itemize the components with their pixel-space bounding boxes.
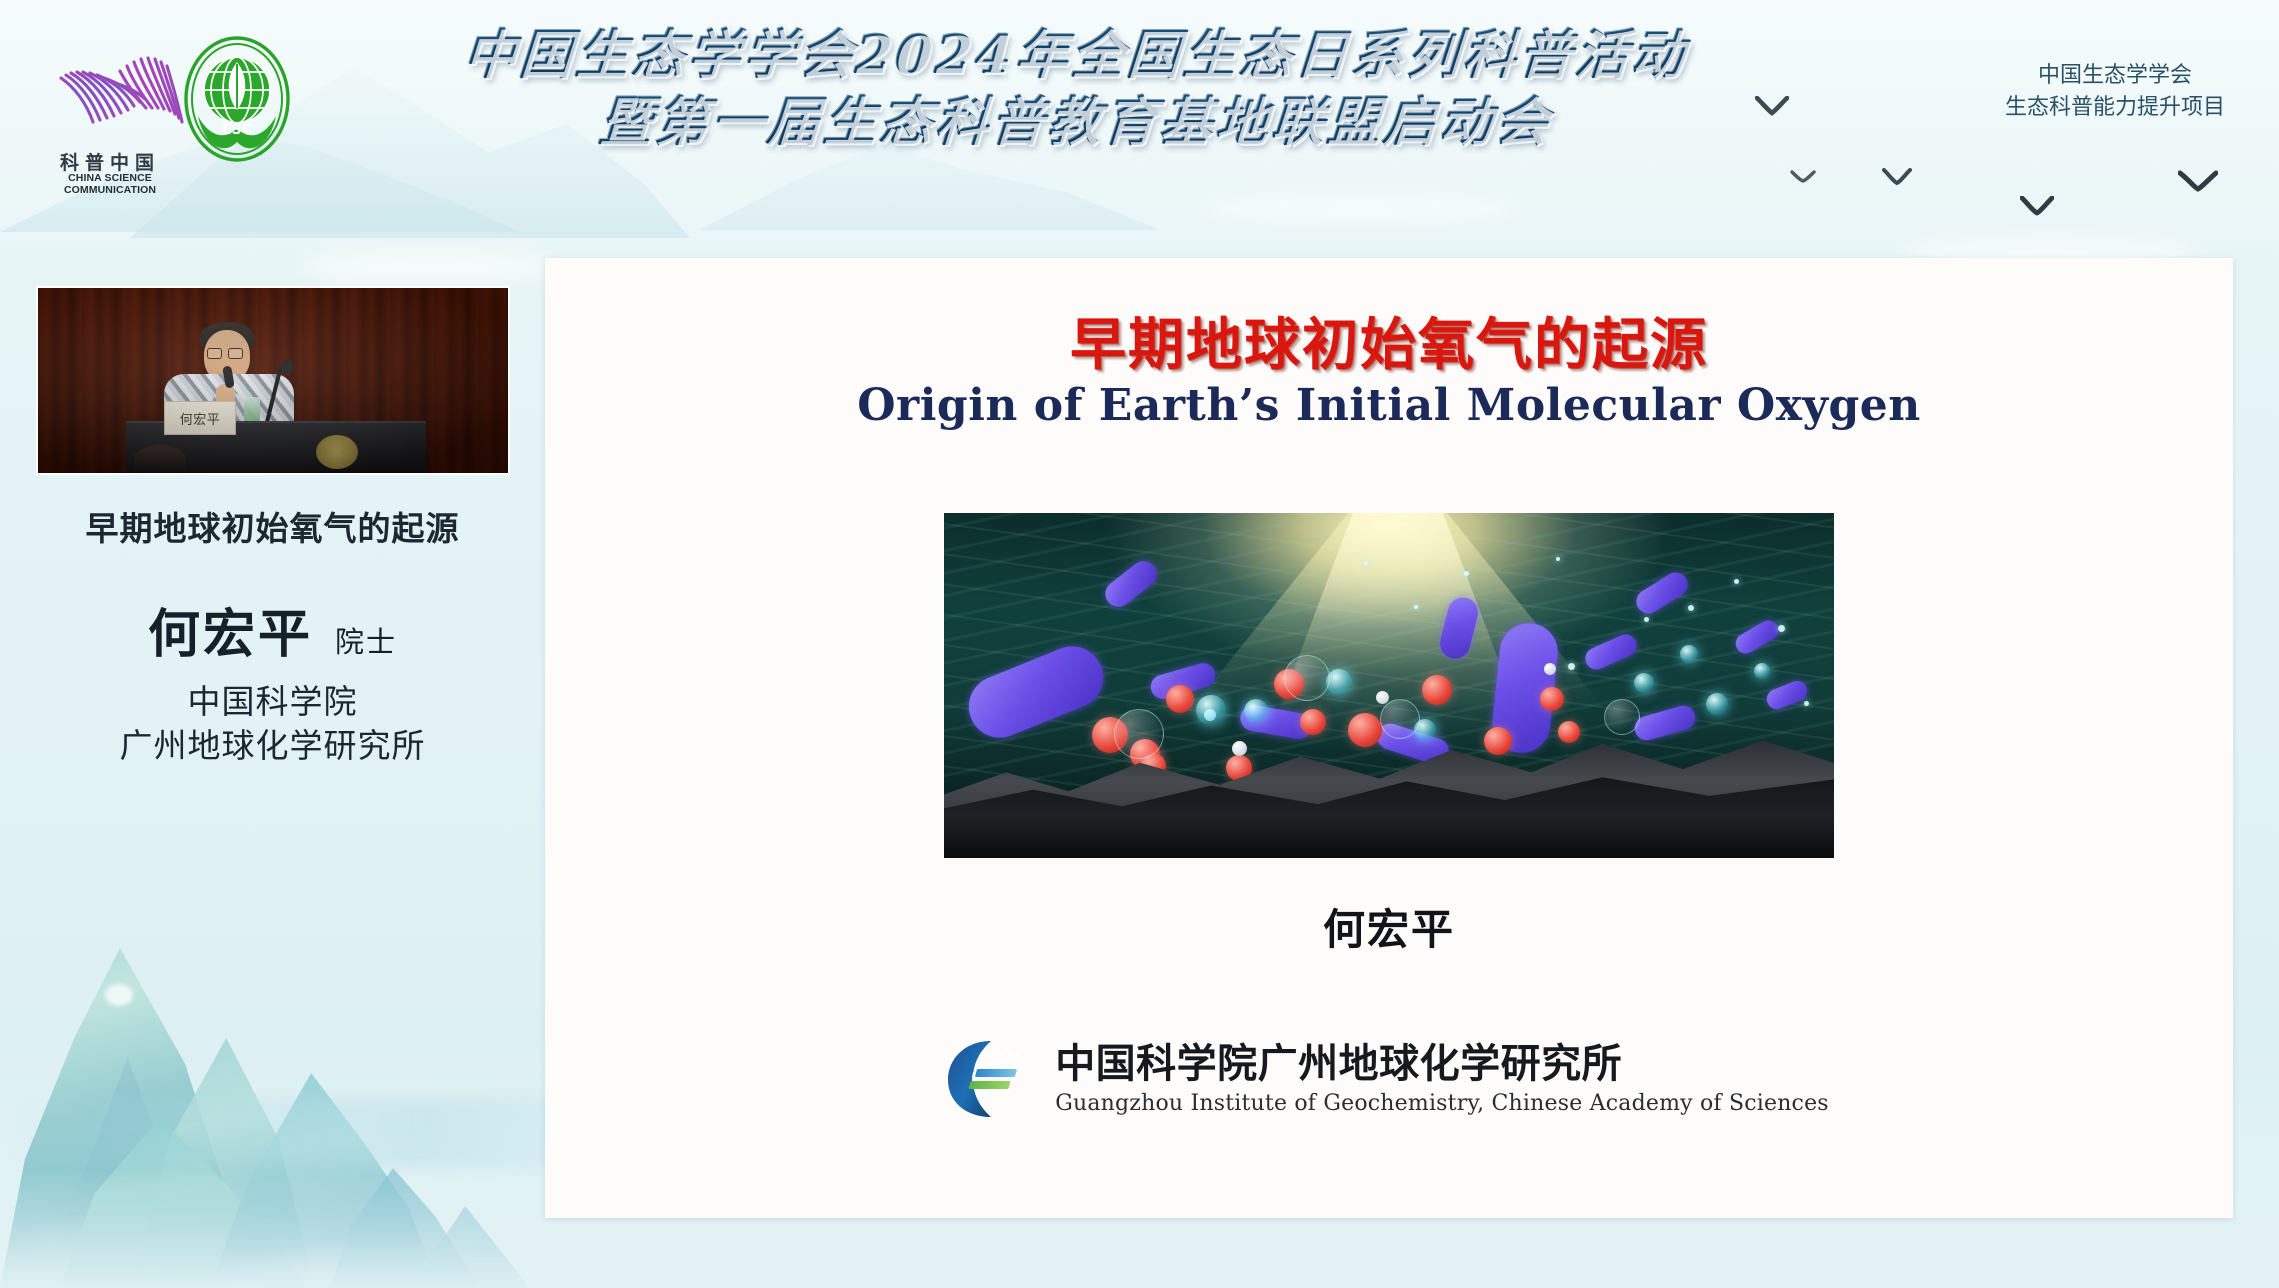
spark — [1568, 663, 1575, 670]
speaker-name: 何宏平 — [148, 605, 313, 665]
bird-icon — [1790, 170, 1816, 189]
spark — [1464, 571, 1469, 576]
svg-text:ESC: ESC — [222, 122, 252, 138]
oxygen-molecule — [1540, 687, 1564, 711]
energy-particle — [1680, 645, 1698, 663]
esc-society-logo: ESC — [182, 34, 292, 164]
slide-title-english: Origin of Earth’s Initial Molecular Oxyg… — [545, 380, 2233, 431]
spark — [1364, 561, 1368, 565]
speaker-identity: 何宏平院士 — [0, 592, 545, 667]
spark — [1734, 579, 1739, 584]
slide-title-chinese: 早期地球初始氧气的起源 — [545, 300, 2233, 381]
energy-particle — [1244, 699, 1268, 723]
oxygen-molecule — [1166, 685, 1194, 713]
speaker-video-feed[interactable]: 何宏平 — [38, 288, 508, 473]
energy-particle — [1754, 663, 1770, 679]
video-vignette — [38, 288, 508, 473]
energy-particle — [1326, 669, 1352, 695]
institution-texts: 中国科学院广州地球化学研究所 Guangzhou Institute of Ge… — [1055, 1042, 1829, 1116]
bird-icon — [1755, 96, 1789, 121]
hydrogen-atom — [1232, 741, 1247, 756]
slide-institution-footer: GIGCAS 中国科学院广州地球化学研究所 Guangzhou Institut… — [657, 1038, 2117, 1120]
speaker-affiliation-line2: 广州地球化学研究所 — [0, 724, 545, 768]
presentation-slide[interactable]: 早期地球初始氧气的起源 Origin of Earth’s Initial Mo… — [545, 258, 2233, 1218]
spark — [1644, 617, 1649, 622]
program-label-line2: 生态科普能力提升项目 — [1985, 92, 2245, 124]
event-title-line1: 中国生态学学会2024年全国生态日系列科普活动 — [418, 24, 1732, 87]
bubble — [1284, 655, 1330, 701]
spark — [1688, 605, 1694, 611]
bird-icon — [2178, 170, 2218, 197]
bubble — [1114, 709, 1164, 759]
energy-particle — [1706, 693, 1728, 715]
institution-name-cn: 中国科学院广州地球化学研究所 — [1055, 1042, 1829, 1087]
program-label: 中国生态学学会 生态科普能力提升项目 — [1985, 60, 2245, 124]
oxygen-molecule — [1558, 721, 1580, 743]
energy-particle — [1634, 673, 1654, 693]
speaker-affiliation: 中国科学院 广州地球化学研究所 — [0, 680, 545, 768]
institution-name-en: Guangzhou Institute of Geochemistry, Chi… — [1055, 1091, 1829, 1116]
spark — [1556, 557, 1560, 561]
bird-icon — [1882, 168, 1912, 191]
china-science-communication-logo: 科普中国 CHINA SCIENCE COMMUNICATION — [24, 26, 194, 211]
event-header: 科普中国 CHINA SCIENCE COMMUNICATION ESC 中国生… — [0, 0, 2279, 185]
gigcas-logo-icon: GIGCAS — [945, 1038, 1035, 1120]
slide-presenter-name: 何宏平 — [545, 896, 2233, 957]
bubble — [1380, 699, 1420, 739]
bubble — [1604, 699, 1640, 735]
spark — [1414, 605, 1418, 609]
event-title-line2: 暨第一届生态科普教育基地联盟启动会 — [418, 91, 1732, 154]
event-title: 中国生态学学会2024年全国生态日系列科普活动 暨第一届生态科普教育基地联盟启动… — [420, 24, 1730, 153]
logo-label-en: CHINA SCIENCE COMMUNICATION — [24, 172, 196, 196]
cloud-wisp — [1200, 196, 1520, 222]
program-label-line1: 中国生态学学会 — [1985, 60, 2245, 92]
bird-icon — [2020, 196, 2054, 221]
oxygen-molecule — [1484, 727, 1512, 755]
speaker-affiliation-line1: 中国科学院 — [0, 680, 545, 724]
mountain-snowcap — [105, 984, 133, 1006]
speaker-rank: 院士 — [335, 625, 397, 659]
oxygen-molecule — [1422, 675, 1452, 705]
logo-label-cn: 科普中国 — [30, 148, 190, 175]
speaker-talk-title: 早期地球初始氧气的起源 — [0, 502, 545, 550]
fin-gradient-icon — [30, 30, 190, 150]
svg-text:GIGCAS: GIGCAS — [979, 1051, 1022, 1062]
spark — [1778, 625, 1785, 632]
spark — [1804, 701, 1809, 706]
cloud-wisp — [300, 250, 560, 284]
slide-hero-illustration — [944, 513, 1834, 858]
hydrogen-atom — [1544, 663, 1556, 675]
energy-particle — [1196, 695, 1226, 725]
oxygen-molecule — [1300, 709, 1326, 735]
oxygen-molecule — [1348, 713, 1382, 747]
